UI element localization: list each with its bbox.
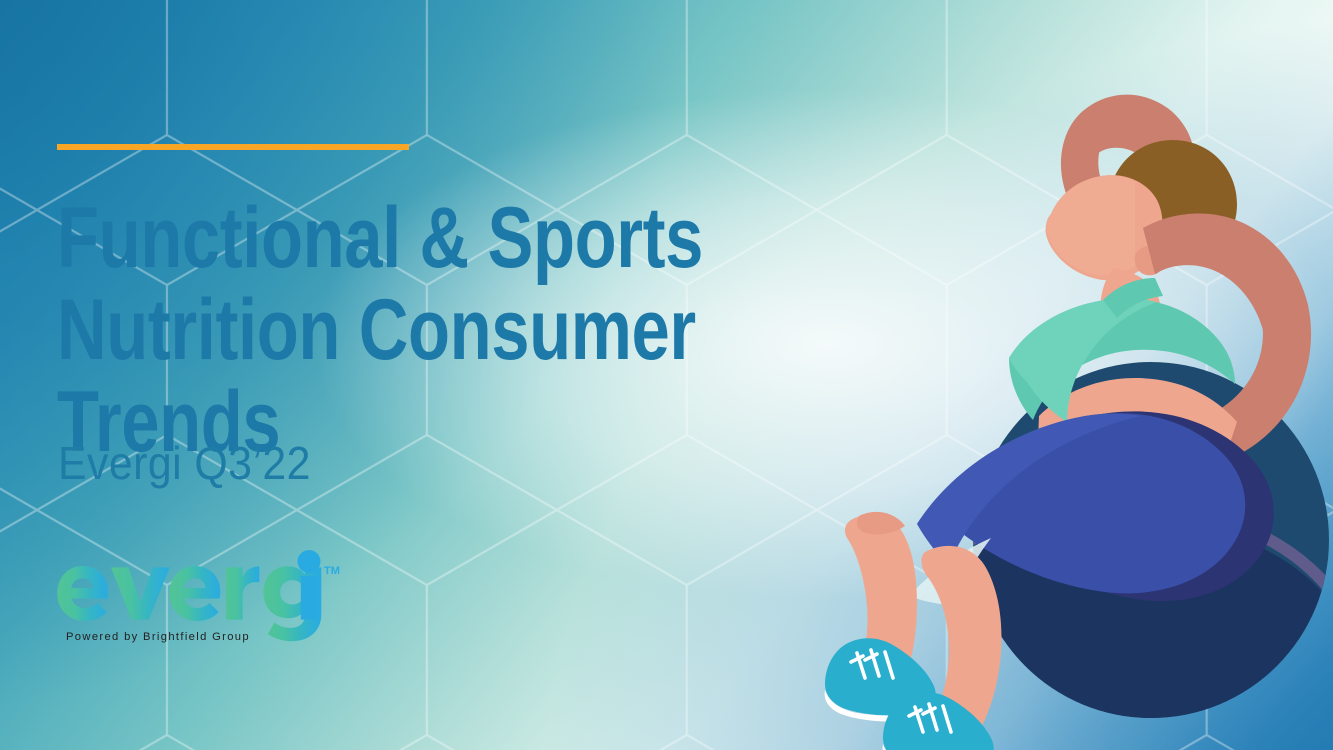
evergi-letter-i xyxy=(298,550,321,620)
evergi-logo: TM Powered by Brightfield Group xyxy=(52,552,332,648)
subtitle: Evergi Q3’22 xyxy=(58,437,311,489)
logo-tagline: Powered by Brightfield Group xyxy=(66,631,250,643)
slide-canvas: Functional & Sports Nutrition Consumer T… xyxy=(0,0,1333,750)
trademark-symbol: TM xyxy=(324,565,340,577)
evergi-wordmark xyxy=(57,566,321,641)
accent-rule xyxy=(57,144,409,150)
illustration-woman-on-exercise-ball xyxy=(813,0,1333,750)
page-title: Functional & Sports Nutrition Consumer T… xyxy=(57,192,825,468)
